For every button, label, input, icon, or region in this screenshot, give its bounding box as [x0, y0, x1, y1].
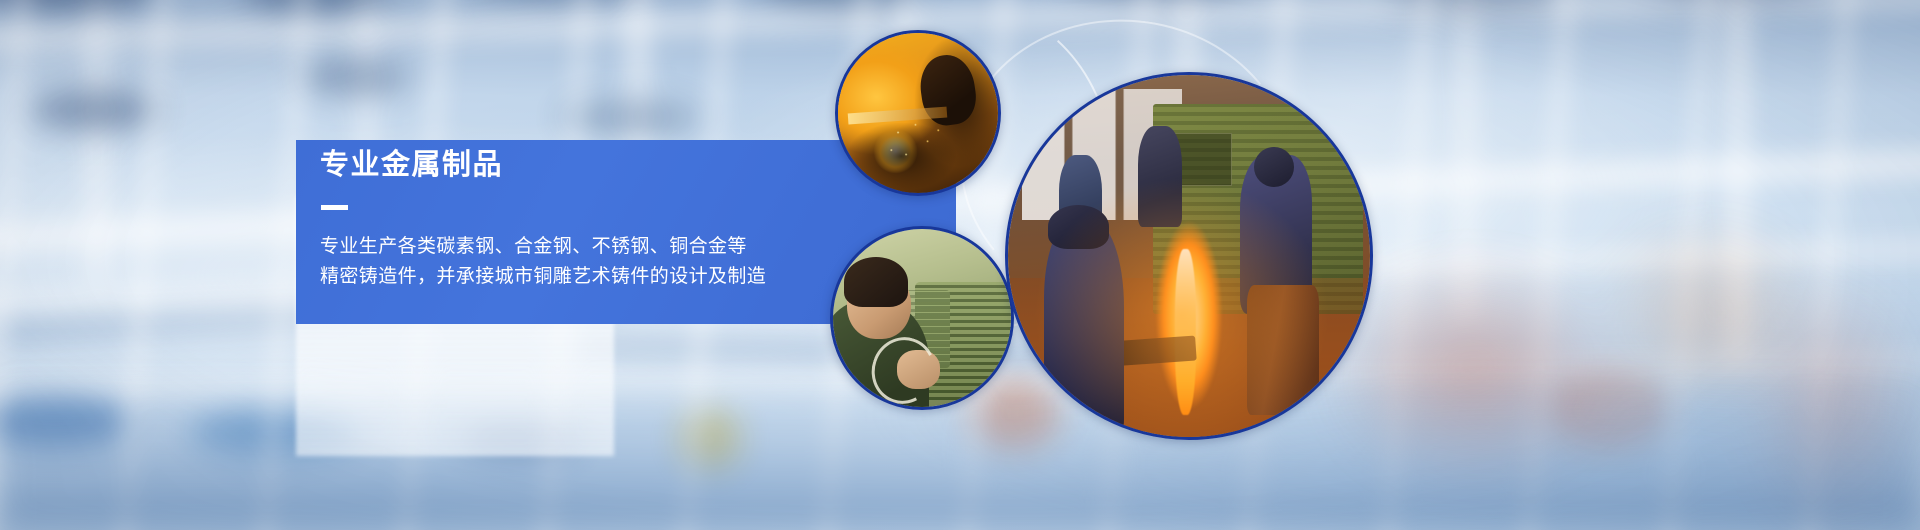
worker-hair-icon [844, 257, 908, 307]
hero-banner: 专业金属制品 专业生产各类碳素钢、合金钢、不锈钢、铜合金等 精密铸造件，并承接城… [0, 0, 1920, 530]
photo-collage [810, 0, 1920, 530]
foundry-photo [1008, 75, 1370, 437]
inspection-photo [833, 229, 1011, 407]
sparks-icon [886, 116, 953, 170]
circle-photo-inspection [830, 226, 1014, 410]
molten-light-wash [1008, 75, 1370, 437]
welding-photo [838, 33, 998, 193]
circle-photo-foundry-pour [1005, 72, 1373, 440]
title-divider-rule [321, 205, 348, 210]
circle-photo-welding [835, 30, 1001, 196]
